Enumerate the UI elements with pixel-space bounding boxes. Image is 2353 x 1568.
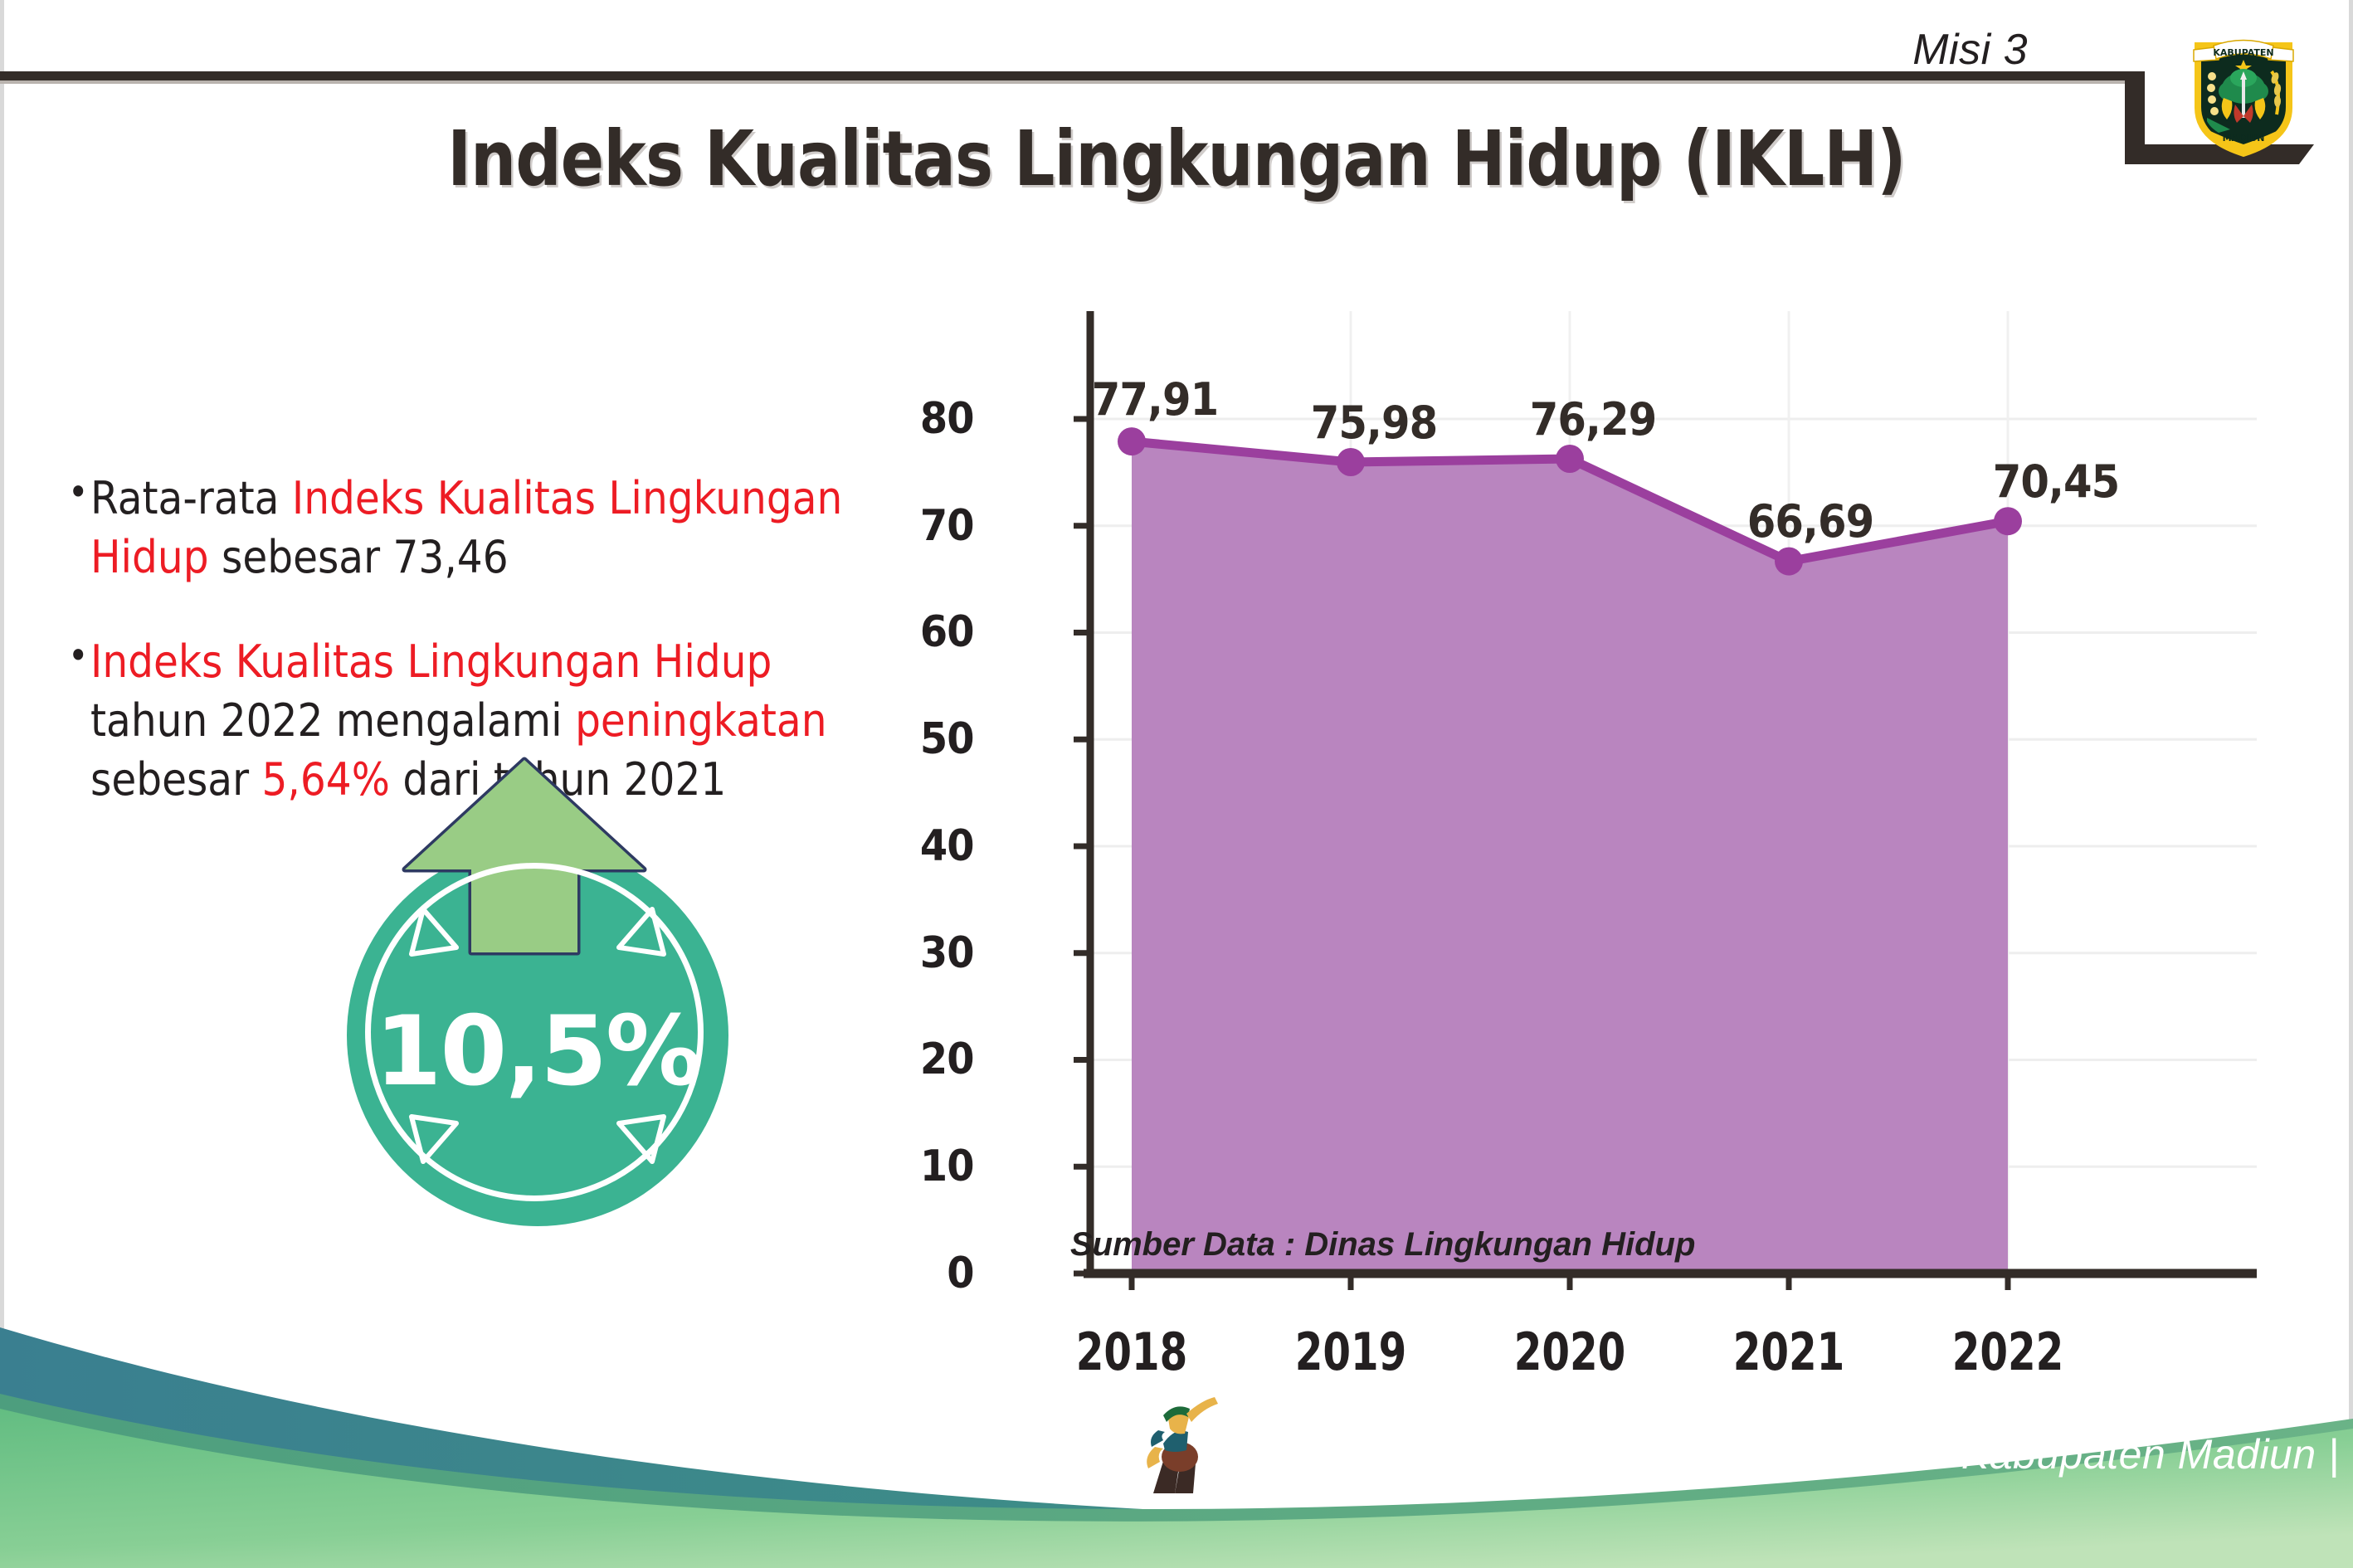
data-label-2020: 76,29 (1502, 393, 1685, 446)
media-infografis-logo-icon (1138, 1385, 1230, 1502)
source-note: Sumber Data : Dinas Lingkungan Hidup (1070, 1226, 1695, 1264)
misi-label: Misi 3 (1912, 25, 2028, 75)
y-tick-label-20: 20 (889, 1035, 973, 1084)
badge-value: 10,5% (347, 996, 728, 1108)
svg-text:KABUPATEN: KABUPATEN (2213, 47, 2273, 58)
bullet-1-seg-0: Indeks Kualitas Lingkungan Hidup (90, 635, 772, 688)
infographic-page: Misi 3 KABUPATEN (0, 0, 2353, 1568)
bullet-0-seg-0: Rata-rata (90, 472, 292, 524)
header-rule (0, 71, 2127, 80)
bullet-1-seg-1: tahun 2022 mengalami (90, 694, 575, 747)
iklh-area-chart: 0 10 20 30 40 50 60 70 80 2018 2019 2020… (987, 286, 2265, 1290)
footer-text: Media Infografis Data Statistik Sektoral… (1218, 1430, 2340, 1478)
data-label-2021: 66,69 (1719, 495, 1902, 548)
footer: Media Infografis Data Statistik Sektoral… (0, 1294, 2353, 1568)
chart-area-fill (1132, 441, 2008, 1273)
data-label-2018: 77,91 (1064, 373, 1247, 426)
bullet-1-seg-3: sebesar (90, 753, 262, 806)
y-tick-label-0: 0 (889, 1249, 973, 1298)
bullet-item-0: Rata-rata Indeks Kualitas Lingkungan Hid… (68, 469, 882, 587)
y-tick-label-70: 70 (889, 501, 973, 551)
y-tick-label-10: 10 (889, 1142, 973, 1191)
bullet-0-seg-2: sebesar 73,46 (209, 531, 509, 583)
increase-badge: 10,5% (329, 755, 768, 1220)
data-label-2019: 75,98 (1283, 397, 1466, 449)
y-tick-label-30: 30 (889, 928, 973, 978)
kabupaten-madiun-crest-icon: KABUPATEN MADIUN (2185, 28, 2302, 159)
y-tick-label-40: 40 (889, 821, 973, 871)
y-tick-label-50: 50 (889, 714, 973, 764)
bullet-1-seg-2: peningkatan (575, 694, 826, 747)
y-tick-label-80: 80 (889, 394, 973, 444)
page-title: Indeks Kualitas Lingkungan Hidup (IKLH) (188, 114, 2165, 203)
header-rule-shadow (0, 80, 2127, 84)
svg-text:MADIUN: MADIUN (2223, 133, 2265, 144)
data-label-2022: 70,45 (1965, 455, 2148, 508)
y-tick-label-60: 60 (889, 607, 973, 657)
